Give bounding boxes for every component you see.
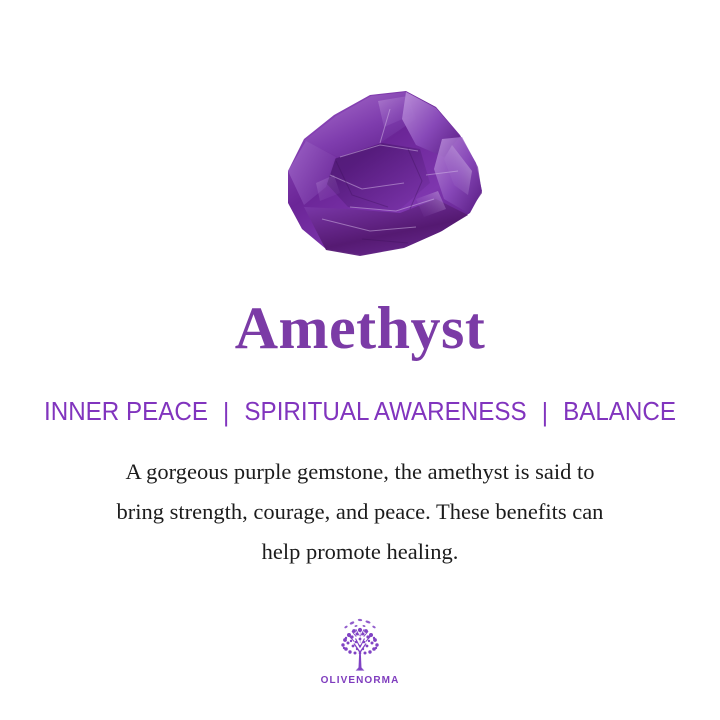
description-line-3: help promote healing. (60, 532, 660, 572)
description-line-1: A gorgeous purple gemstone, the amethyst… (60, 452, 660, 492)
keyword-separator-1: | (223, 399, 229, 425)
keyword-list: INNER PEACE | SPIRITUAL AWARENESS | BALA… (25, 398, 695, 424)
floating-leaves (344, 619, 376, 629)
keyword-separator-2: | (542, 399, 548, 425)
description-line-2: bring strength, courage, and peace. Thes… (60, 492, 660, 532)
brand-name: OLIVENORMA (321, 676, 400, 686)
page-title: Amethyst (0, 298, 720, 358)
description-paragraph: A gorgeous purple gemstone, the amethyst… (60, 452, 660, 572)
tree-of-life-icon (329, 612, 391, 674)
keyword-inner-peace: INNER PEACE (44, 396, 208, 426)
keyword-balance: BALANCE (563, 396, 676, 426)
amethyst-crystal-image (230, 79, 490, 265)
keyword-spiritual-awareness: SPIRITUAL AWARENESS (244, 396, 526, 426)
brand-logo: OLIVENORMA (0, 612, 720, 686)
amethyst-product-card: Amethyst INNER PEACE | SPIRITUAL AWARENE… (0, 0, 720, 720)
gemstone-image-container (0, 72, 720, 272)
